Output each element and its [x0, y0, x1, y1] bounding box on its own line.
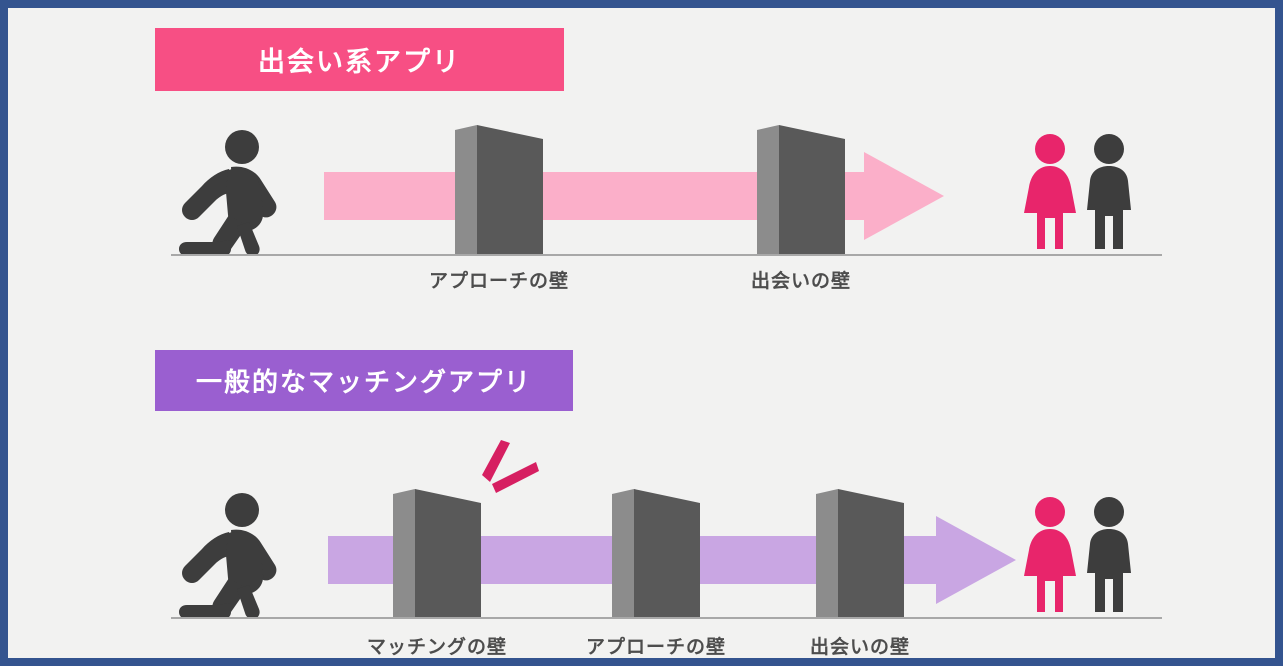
impact-burst-icon	[478, 440, 540, 496]
wall-block-approach-matching	[612, 486, 700, 619]
ground-line-dating	[171, 254, 1162, 256]
wall-label-matching: マッチングの壁	[367, 632, 507, 659]
wall-label-encounter-matching: 出会いの壁	[810, 632, 910, 659]
section-badge-dating-app: 出会い系アプリ	[155, 28, 564, 91]
woman-icon-matching	[1023, 497, 1077, 612]
wall-block-approach-dating	[455, 122, 543, 255]
section-badge-matching-app: 一般的なマッチングアプリ	[155, 350, 573, 411]
man-icon-matching	[1084, 497, 1134, 612]
wall-block-encounter-matching	[816, 486, 904, 619]
wall-block-encounter-dating	[757, 122, 845, 255]
man-icon-dating	[1084, 134, 1134, 249]
slide-frame: 出会い系アプリ	[0, 0, 1283, 666]
wall-label-approach-matching: アプローチの壁	[586, 632, 726, 659]
running-person-icon-matching	[171, 493, 287, 619]
running-person-icon-dating	[171, 130, 287, 256]
wall-label-approach-dating: アプローチの壁	[429, 266, 569, 293]
ground-line-matching	[171, 617, 1162, 619]
section-badge-label: 出会い系アプリ	[258, 40, 461, 79]
section-badge-label: 一般的なマッチングアプリ	[196, 362, 532, 399]
wall-label-encounter-dating: 出会いの壁	[751, 266, 851, 293]
progress-arrow-dating	[324, 152, 944, 240]
slide-canvas: 出会い系アプリ	[8, 8, 1275, 658]
wall-block-matching	[393, 486, 481, 619]
woman-icon-dating	[1023, 134, 1077, 249]
